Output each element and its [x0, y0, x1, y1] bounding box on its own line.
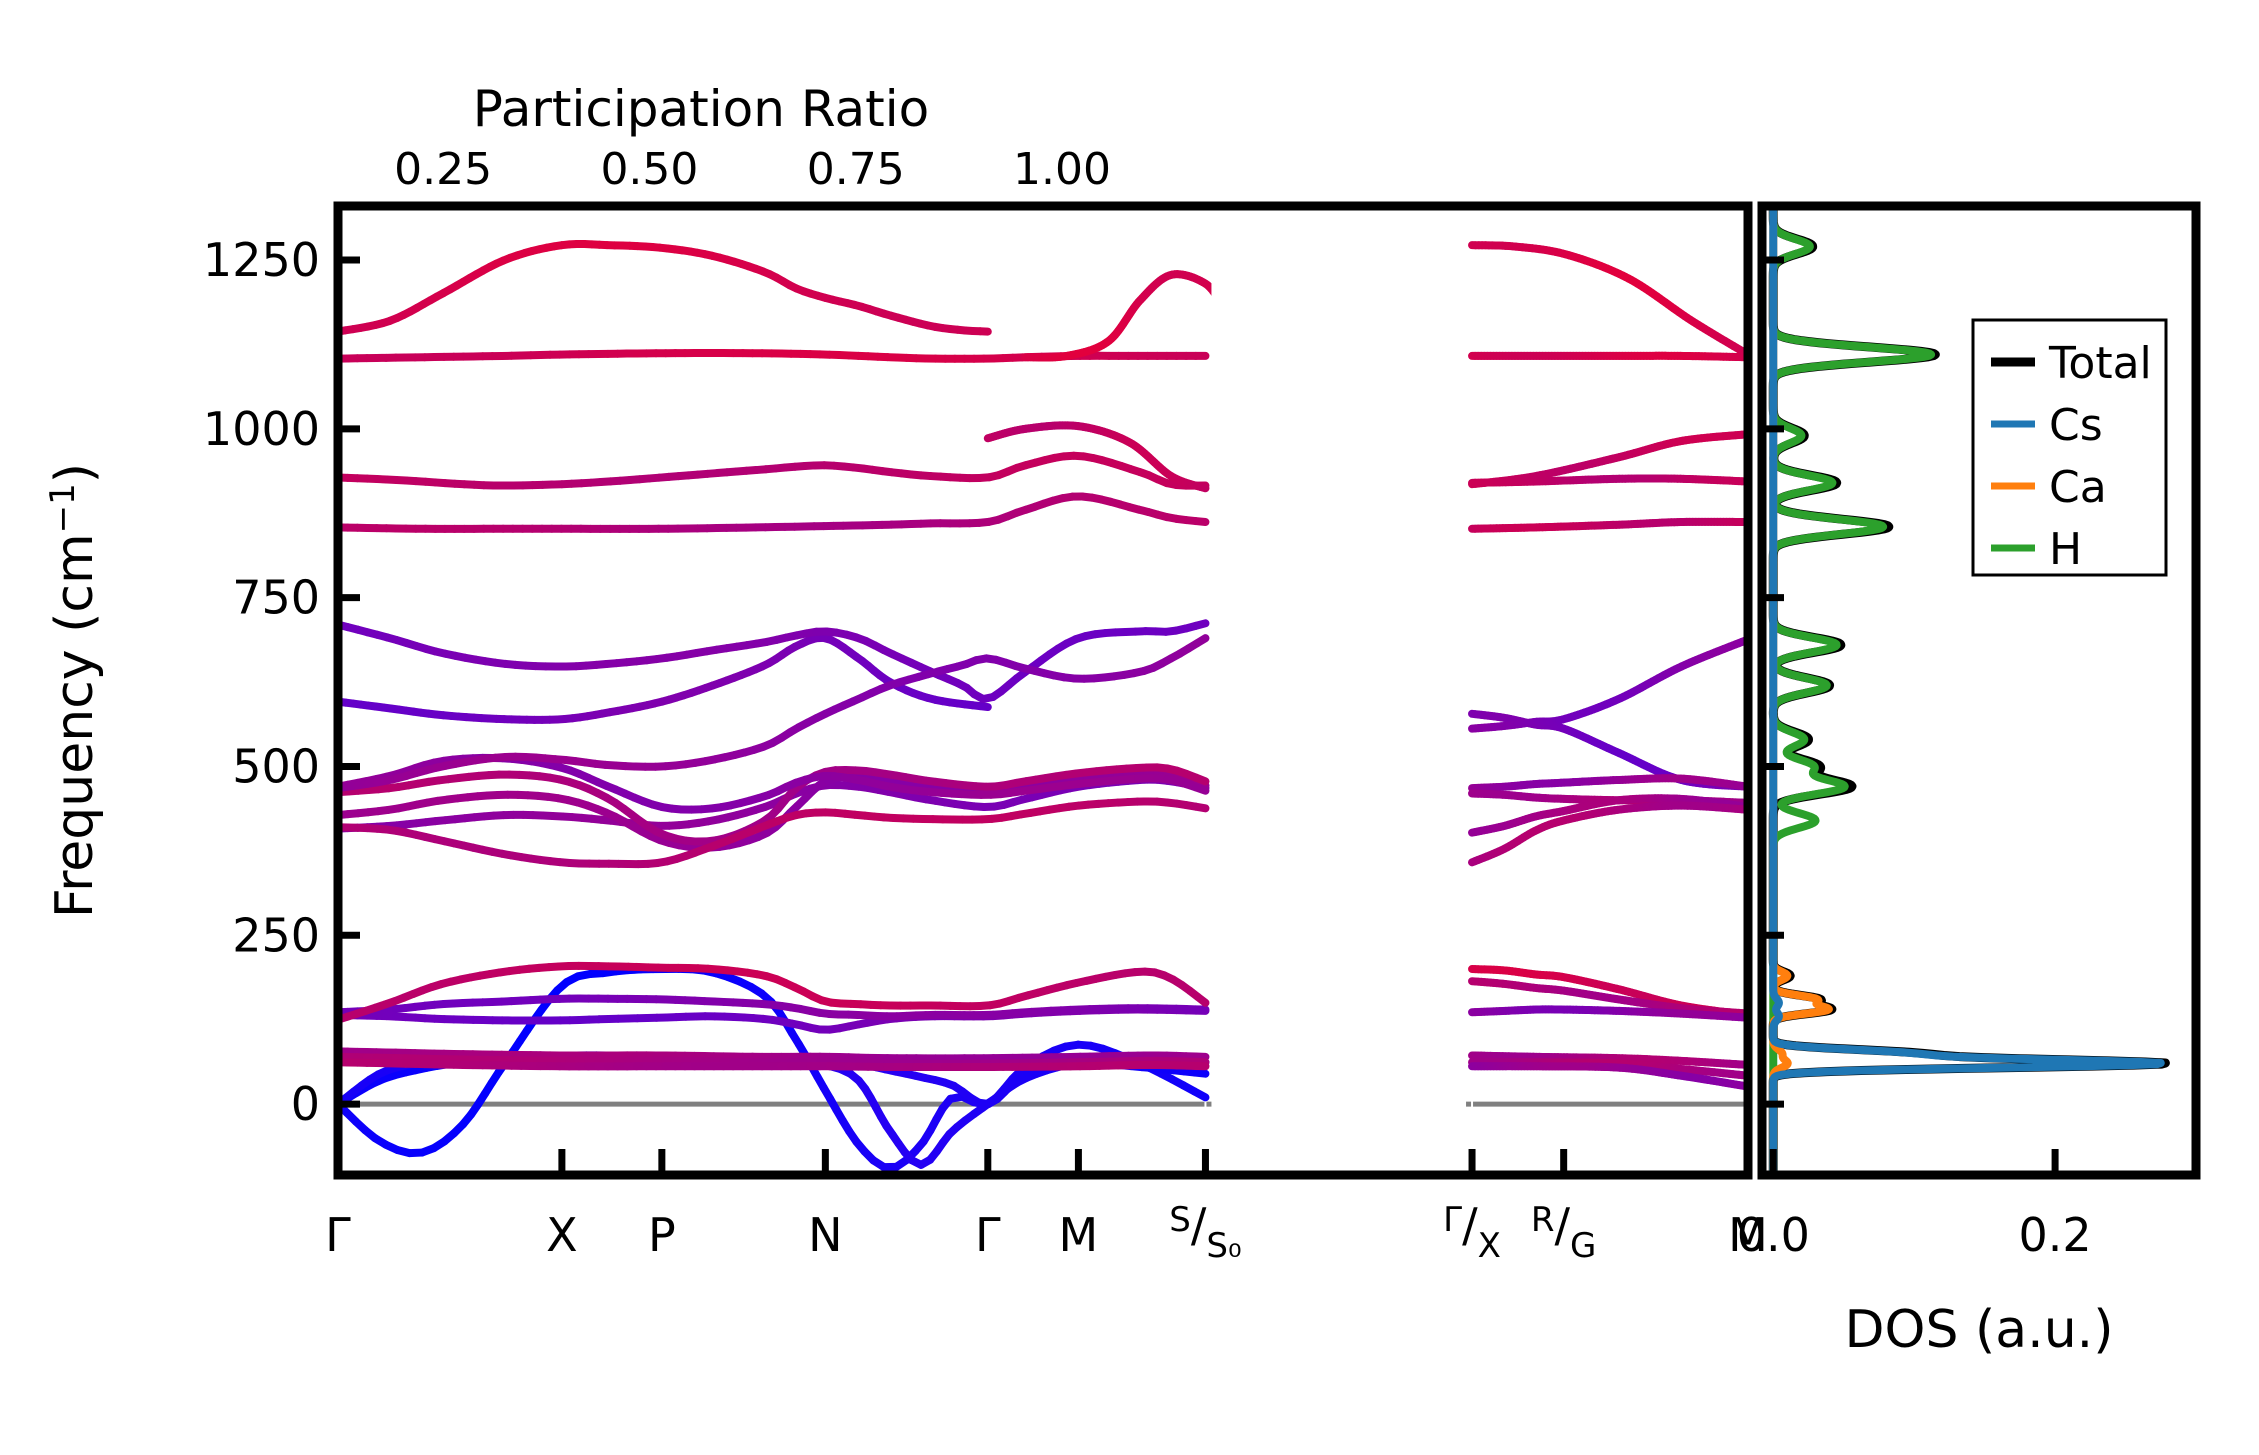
band-segment — [1203, 487, 1206, 488]
y-tick-label: 750 — [232, 571, 320, 625]
x-tick-label: Γ — [325, 1208, 351, 1262]
colorbar-tick-label: 0.25 — [394, 144, 492, 195]
y-axis-label: Frequency (cm−1) — [43, 463, 105, 918]
x-tick-label: M — [1059, 1208, 1099, 1262]
colorbar-tick-label: 1.00 — [1013, 144, 1111, 195]
band-segment — [1197, 638, 1206, 643]
legend-label-cs: Cs — [2049, 400, 2103, 451]
band-xtick-labels[interactable]: ΓXPNΓMS/S₀Γ/XR/GM — [325, 1198, 1768, 1266]
kpath-gap-mask — [1211, 210, 1466, 1171]
y-tick-label: 1000 — [203, 402, 320, 456]
x-tick-label: Γ — [975, 1208, 1001, 1262]
y-tick-label: 500 — [232, 739, 320, 793]
figure-canvas: 0.250.500.751.00Participation Ratio02505… — [0, 0, 2259, 1455]
band-ylabel-group[interactable]: Frequency (cm−1) — [43, 463, 105, 918]
colorbar-title: Participation Ratio — [473, 80, 929, 138]
band-segment — [1196, 623, 1206, 626]
legend-label-h: H — [2049, 524, 2082, 575]
x-tick-label: P — [648, 1208, 676, 1262]
band-segment — [1196, 521, 1206, 522]
x-tick-label: R/G — [1531, 1198, 1596, 1266]
x-tick-label: Γ/X — [1443, 1198, 1501, 1266]
y-tick-label: 1250 — [203, 233, 320, 287]
colorbar-tick-label: 0.50 — [600, 144, 698, 195]
dos-x-axis-label: DOS (a.u.) — [1845, 1300, 2114, 1360]
figure-root: 0.250.500.751.00Participation Ratio02505… — [0, 0, 2259, 1455]
band-segment — [980, 706, 988, 707]
band-segment — [1196, 788, 1205, 791]
x-tick-label: S/S₀ — [1169, 1198, 1241, 1266]
legend-label-ca: Ca — [2049, 462, 2107, 513]
legend-label-total: Total — [2048, 338, 2152, 389]
band-segment — [1195, 1073, 1206, 1074]
band-segment — [1196, 778, 1205, 782]
y-tick-label: 250 — [232, 908, 320, 962]
band-segment — [1194, 1091, 1205, 1097]
band-structure-panel[interactable]: 025050075010001250 — [203, 206, 1748, 1175]
colorbar-tick-label: 0.75 — [807, 144, 905, 195]
x-tick-label: N — [808, 1208, 842, 1262]
dos-legend[interactable]: TotalCsCaH — [1973, 320, 2166, 575]
y-tick-label: 0 — [291, 1077, 320, 1131]
dos-x-tick-label: 0.0 — [1737, 1208, 1810, 1262]
band-segment — [1198, 997, 1206, 1003]
dos-x-tick-label: 0.2 — [2019, 1208, 2092, 1262]
band-segment — [1196, 807, 1206, 809]
x-tick-label: X — [546, 1208, 578, 1262]
